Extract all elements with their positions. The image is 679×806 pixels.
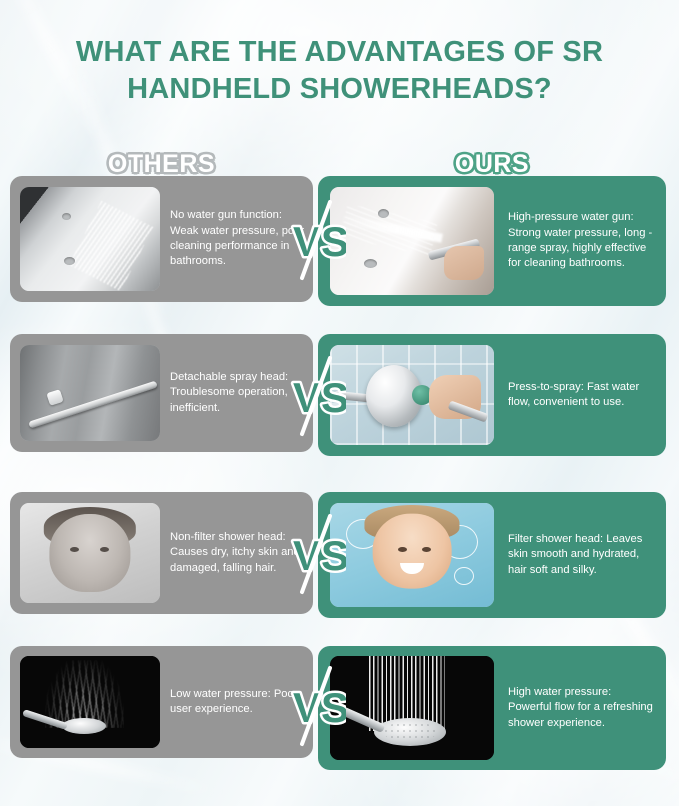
others-panel: Low water pressure: Poor user experience… <box>10 646 313 758</box>
others-thumbnail <box>20 656 160 748</box>
ours-caption: High water pressure: Powerful flow for a… <box>508 685 656 731</box>
ours-panel: Press-to-spray: Fast water flow, conveni… <box>318 334 666 456</box>
ours-panel: Filter shower head: Leaves skin smooth a… <box>318 492 666 618</box>
comparison-row: No water gun function: Weak water pressu… <box>0 176 679 306</box>
ours-caption: Press-to-spray: Fast water flow, conveni… <box>508 380 656 411</box>
page-title: WHAT ARE THE ADVANTAGES OF SR HANDHELD S… <box>0 34 679 108</box>
ours-thumbnail <box>330 503 494 607</box>
comparison-row: Non-filter shower head: Causes dry, itch… <box>0 492 679 618</box>
column-header-ours: OURS <box>318 150 666 179</box>
ours-panel: High water pressure: Powerful flow for a… <box>318 646 666 770</box>
others-caption: Non-filter shower head: Causes dry, itch… <box>170 530 305 576</box>
infographic-page: WHAT ARE THE ADVANTAGES OF SR HANDHELD S… <box>0 0 679 806</box>
others-thumbnail <box>20 345 160 441</box>
ours-thumbnail <box>330 656 494 760</box>
others-caption: Low water pressure: Poor user experience… <box>170 687 305 718</box>
ours-caption: Filter shower head: Leaves skin smooth a… <box>508 532 656 578</box>
ours-panel: High-pressure water gun: Strong water pr… <box>318 176 666 306</box>
ours-caption: High-pressure water gun: Strong water pr… <box>508 210 656 272</box>
others-panel: No water gun function: Weak water pressu… <box>10 176 313 302</box>
others-thumbnail <box>20 187 160 291</box>
column-header-others: OTHERS <box>10 150 313 179</box>
ours-thumbnail <box>330 187 494 295</box>
others-panel: Non-filter shower head: Causes dry, itch… <box>10 492 313 614</box>
others-caption: No water gun function: Weak water pressu… <box>170 208 305 270</box>
others-caption: Detachable spray head: Troublesome opera… <box>170 370 305 416</box>
comparison-row: Detachable spray head: Troublesome opera… <box>0 334 679 456</box>
ours-thumbnail <box>330 345 494 445</box>
comparison-row: Low water pressure: Poor user experience… <box>0 646 679 772</box>
others-panel: Detachable spray head: Troublesome opera… <box>10 334 313 452</box>
others-thumbnail <box>20 503 160 603</box>
